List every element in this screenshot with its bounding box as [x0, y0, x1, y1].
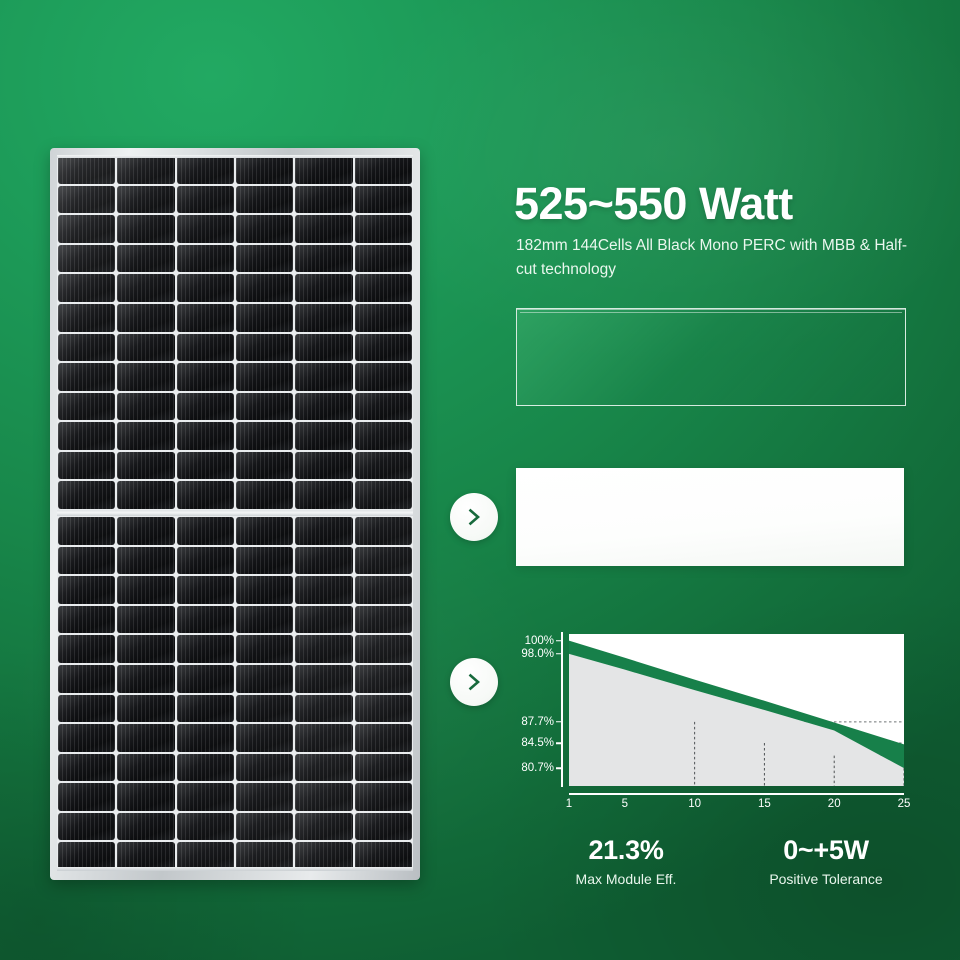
chart-plot-area	[569, 634, 904, 786]
solar-cell	[58, 635, 115, 663]
solar-cell	[295, 393, 352, 421]
solar-cell	[58, 783, 115, 811]
solar-cell	[236, 547, 293, 575]
solar-cell	[355, 695, 412, 723]
solar-cell	[177, 422, 234, 450]
chart-y-tick: 84.5%	[521, 737, 554, 749]
solar-cell	[236, 393, 293, 421]
product-subtitle: 182mm 144Cells All Black Mono PERC with …	[516, 234, 916, 282]
chart-x-tick: 25	[898, 798, 911, 810]
cell-column	[295, 156, 352, 509]
solar-cell	[355, 754, 412, 782]
spec-stat-value: 21.3%	[526, 835, 726, 866]
solar-cell	[58, 452, 115, 480]
solar-cell	[177, 245, 234, 273]
solar-cell	[177, 304, 234, 332]
solar-cell	[177, 393, 234, 421]
spec-stat: 0~+5WPositive Tolerance	[726, 835, 926, 905]
solar-cell	[58, 274, 115, 302]
solar-cell	[58, 813, 115, 841]
content-column: 525~550 Watt 182mm 144Cells All Black Mo…	[440, 150, 920, 940]
solar-cell	[355, 783, 412, 811]
solar-cell	[117, 481, 174, 509]
cell-grid-top-half	[57, 155, 413, 510]
solar-cell	[355, 635, 412, 663]
solar-cell	[177, 481, 234, 509]
cell-column	[117, 156, 174, 509]
solar-cell	[295, 245, 352, 273]
solar-cell	[236, 481, 293, 509]
solar-cell	[177, 665, 234, 693]
solar-cell	[295, 274, 352, 302]
solar-cell	[236, 156, 293, 184]
solar-cell	[355, 422, 412, 450]
solar-cell	[236, 452, 293, 480]
solar-cell	[295, 635, 352, 663]
solar-cell	[355, 724, 412, 752]
solar-cell	[236, 334, 293, 362]
spec-stat-label: Positive Tolerance	[726, 871, 926, 887]
solar-cell	[58, 245, 115, 273]
page-title: 525~550 Watt	[514, 178, 793, 230]
solar-cell	[236, 842, 293, 870]
chart-x-tick: 15	[758, 798, 771, 810]
solar-cell	[355, 393, 412, 421]
solar-cell	[295, 517, 352, 545]
standard-warranty-area	[569, 654, 904, 786]
cell-column	[58, 156, 115, 509]
solar-cell	[236, 576, 293, 604]
spec-stat-label: Max Module Eff.	[526, 871, 726, 887]
solar-cell	[117, 842, 174, 870]
white-banner	[516, 468, 904, 566]
solar-cell	[295, 186, 352, 214]
solar-panel-module	[50, 148, 420, 880]
solar-cell	[117, 156, 174, 184]
solar-cell	[295, 695, 352, 723]
solar-cell	[355, 334, 412, 362]
cell-column	[355, 156, 412, 509]
solar-cell	[295, 783, 352, 811]
panel-glass	[57, 155, 413, 871]
solar-cell	[58, 481, 115, 509]
solar-cell	[295, 215, 352, 243]
solar-cell	[58, 363, 115, 391]
solar-cell	[236, 606, 293, 634]
solar-cell	[295, 363, 352, 391]
cell-column	[355, 517, 412, 870]
chart-y-tick: 80.7%	[521, 762, 554, 774]
solar-cell	[117, 754, 174, 782]
solar-cell	[177, 813, 234, 841]
solar-cell	[355, 842, 412, 870]
cell-column	[177, 156, 234, 509]
solar-cell	[355, 576, 412, 604]
solar-cell	[236, 635, 293, 663]
solar-cell	[58, 754, 115, 782]
chart-x-tick: 10	[688, 798, 701, 810]
solar-cell	[236, 422, 293, 450]
solar-cell	[355, 452, 412, 480]
spec-stats: 21.3%Max Module Eff.0~+5WPositive Tolera…	[526, 835, 926, 905]
cell-column	[236, 156, 293, 509]
chart-y-tick: 100%	[525, 635, 554, 647]
solar-cell	[58, 422, 115, 450]
solar-cell	[177, 334, 234, 362]
chart-svg	[569, 634, 904, 786]
solar-cell	[355, 665, 412, 693]
solar-cell	[58, 842, 115, 870]
solar-cell	[117, 215, 174, 243]
solar-cell	[117, 393, 174, 421]
power-warranty-chart: 100%98.0%87.7%84.5%80.7% 1510152025	[516, 632, 904, 822]
solar-cell	[117, 363, 174, 391]
solar-cell	[295, 304, 352, 332]
solar-cell	[58, 393, 115, 421]
solar-cell	[355, 186, 412, 214]
solar-cell	[58, 215, 115, 243]
chart-x-axis-labels: 1510152025	[569, 798, 904, 818]
solar-cell	[236, 665, 293, 693]
solar-cell	[295, 754, 352, 782]
solar-cell	[355, 274, 412, 302]
solar-cell	[177, 842, 234, 870]
solar-cell	[355, 156, 412, 184]
solar-cell	[117, 576, 174, 604]
solar-cell	[117, 606, 174, 634]
solar-cell	[177, 274, 234, 302]
solar-cell	[177, 695, 234, 723]
product-banner: 525~550 Watt 182mm 144Cells All Black Mo…	[0, 0, 960, 960]
solar-cell	[295, 842, 352, 870]
solar-cell	[355, 363, 412, 391]
solar-cell	[177, 783, 234, 811]
cell-grid-bottom-half	[57, 516, 413, 871]
solar-cell	[117, 334, 174, 362]
solar-cell	[58, 517, 115, 545]
solar-cell	[58, 695, 115, 723]
cell-column	[177, 517, 234, 870]
cell-column	[295, 517, 352, 870]
solar-cell	[117, 547, 174, 575]
cell-column	[58, 517, 115, 870]
solar-cell	[295, 813, 352, 841]
solar-cell	[177, 754, 234, 782]
solar-cell	[177, 452, 234, 480]
solar-cell	[236, 274, 293, 302]
solar-cell	[295, 422, 352, 450]
solar-cell	[177, 186, 234, 214]
solar-cell	[236, 304, 293, 332]
solar-cell	[117, 695, 174, 723]
solar-cell	[117, 724, 174, 752]
chart-y-tick: 98.0%	[521, 648, 554, 660]
solar-cell	[117, 422, 174, 450]
solar-cell	[117, 186, 174, 214]
solar-cell	[355, 606, 412, 634]
chevron-right-icon	[450, 658, 498, 706]
chart-x-tick: 1	[566, 798, 572, 810]
solar-cell	[355, 813, 412, 841]
solar-cell	[177, 215, 234, 243]
solar-cell	[236, 245, 293, 273]
solar-cell	[236, 695, 293, 723]
solar-cell	[177, 363, 234, 391]
solar-cell	[295, 481, 352, 509]
solar-cell	[236, 363, 293, 391]
solar-cell	[58, 186, 115, 214]
solar-cell	[355, 215, 412, 243]
solar-cell	[295, 547, 352, 575]
spec-stat: 21.3%Max Module Eff.	[526, 835, 726, 905]
solar-cell	[58, 724, 115, 752]
solar-cell	[58, 547, 115, 575]
solar-cell	[177, 547, 234, 575]
solar-cell	[355, 245, 412, 273]
spec-stat-value: 0~+5W	[726, 835, 926, 866]
chart-y-tick: 87.7%	[521, 716, 554, 728]
solar-cell	[177, 724, 234, 752]
solar-cell	[117, 813, 174, 841]
solar-cell	[295, 156, 352, 184]
solar-cell	[355, 517, 412, 545]
solar-cell	[355, 547, 412, 575]
cell-column	[236, 517, 293, 870]
solar-cell	[117, 452, 174, 480]
solar-cell	[117, 635, 174, 663]
solar-cell	[117, 245, 174, 273]
solar-cell	[236, 186, 293, 214]
chart-x-tick: 20	[828, 798, 841, 810]
solar-cell	[177, 635, 234, 663]
solar-cell	[117, 274, 174, 302]
chart-y-axis-line	[561, 632, 563, 787]
solar-cell	[295, 452, 352, 480]
solar-cell	[236, 517, 293, 545]
chart-x-axis-line	[569, 793, 904, 795]
solar-cell	[177, 156, 234, 184]
solar-cell	[295, 665, 352, 693]
solar-cell	[295, 724, 352, 752]
chart-y-axis-labels: 100%98.0%87.7%84.5%80.7%	[516, 632, 562, 787]
solar-cell	[236, 754, 293, 782]
solar-cell	[177, 517, 234, 545]
solar-cell	[236, 724, 293, 752]
solar-cell	[58, 334, 115, 362]
cell-column	[117, 517, 174, 870]
chevron-right-icon	[450, 493, 498, 541]
solar-cell	[295, 606, 352, 634]
solar-cell	[177, 606, 234, 634]
solar-cell	[117, 517, 174, 545]
solar-cell	[117, 304, 174, 332]
solar-cell	[355, 304, 412, 332]
solar-cell	[117, 665, 174, 693]
solar-cell	[58, 665, 115, 693]
solar-cell	[295, 334, 352, 362]
solar-cell	[295, 576, 352, 604]
solar-cell	[236, 215, 293, 243]
solar-cell	[236, 783, 293, 811]
solar-cell	[58, 304, 115, 332]
solar-cell	[58, 156, 115, 184]
solar-cell	[236, 813, 293, 841]
outlined-banner	[516, 308, 906, 406]
solar-cell	[117, 783, 174, 811]
solar-cell	[177, 576, 234, 604]
solar-cell	[355, 481, 412, 509]
solar-cell	[58, 576, 115, 604]
solar-cell	[58, 606, 115, 634]
chart-x-tick: 5	[622, 798, 628, 810]
